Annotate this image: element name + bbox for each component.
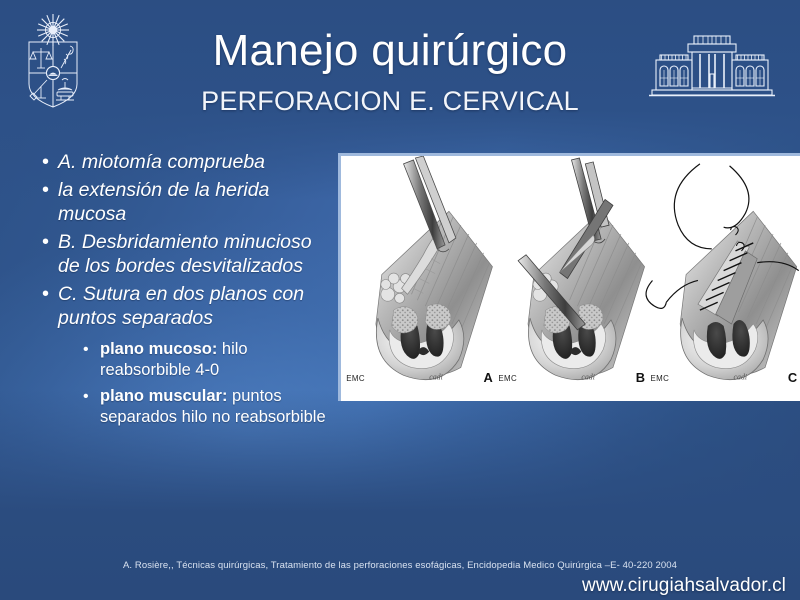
sub-list-item: plano muscular: puntos separados hilo no…	[80, 386, 342, 428]
website-url[interactable]: www.cirugiahsalvador.cl	[582, 575, 786, 597]
bullet-text: C. Sutura en dos planos con puntos separ…	[58, 282, 336, 330]
bullet-dot-icon	[36, 178, 58, 202]
svg-text:EMC: EMC	[651, 374, 670, 383]
svg-text:A: A	[484, 370, 493, 385]
list-item: C. Sutura en dos planos con puntos separ…	[36, 282, 336, 330]
svg-text:cadi: cadi	[734, 372, 748, 381]
svg-text:cadi: cadi	[429, 372, 443, 381]
surgical-illustration-figure: EMC cadi A	[338, 153, 800, 401]
bullet-list: A. miotomía comprueba la extensión de la…	[36, 150, 336, 428]
page-subtitle: PERFORACION E. CERVICAL	[110, 86, 670, 117]
bullet-dot-icon	[36, 282, 58, 306]
sub-bullet-lead: plano muscular:	[100, 387, 227, 405]
svg-text:C: C	[788, 370, 797, 385]
bullet-text: A. miotomía comprueba	[58, 150, 336, 174]
source-credit: A. Rosière,, Técnicas quirúrgicas, Trata…	[0, 560, 800, 571]
sub-bullet-list: plano mucoso: hilo reabsorbible 4-0 plan…	[80, 339, 342, 428]
universidad-de-chile-logo-icon	[17, 12, 89, 110]
surgical-illustration-svg: EMC cadi A	[341, 156, 800, 401]
sub-bullet-text: plano mucoso: hilo reabsorbible 4-0	[100, 339, 342, 381]
svg-text:EMC: EMC	[346, 374, 365, 383]
bullet-dot-icon	[36, 230, 58, 254]
svg-text:cadi: cadi	[581, 372, 595, 381]
svg-text:EMC: EMC	[498, 374, 517, 383]
list-item: A. miotomía comprueba	[36, 150, 336, 174]
page-title: Manejo quirúrgico	[110, 28, 670, 74]
slide: Manejo quirúrgico PERFORACION E. CERVICA…	[0, 0, 800, 600]
bullet-dot-icon	[36, 150, 58, 174]
sub-bullet-dot-icon	[80, 386, 100, 407]
sub-list-item: plano mucoso: hilo reabsorbible 4-0	[80, 339, 342, 381]
sub-bullet-lead: plano mucoso:	[100, 340, 217, 358]
bullet-text: B. Desbridamiento minucioso de los borde…	[58, 230, 336, 278]
list-item: B. Desbridamiento minucioso de los borde…	[36, 230, 336, 278]
sub-bullet-dot-icon	[80, 339, 100, 360]
bullet-text: la extensión de la herida mucosa	[58, 178, 336, 226]
list-item: la extensión de la herida mucosa	[36, 178, 336, 226]
svg-text:B: B	[636, 370, 645, 385]
sub-bullet-text: plano muscular: puntos separados hilo no…	[100, 386, 342, 428]
